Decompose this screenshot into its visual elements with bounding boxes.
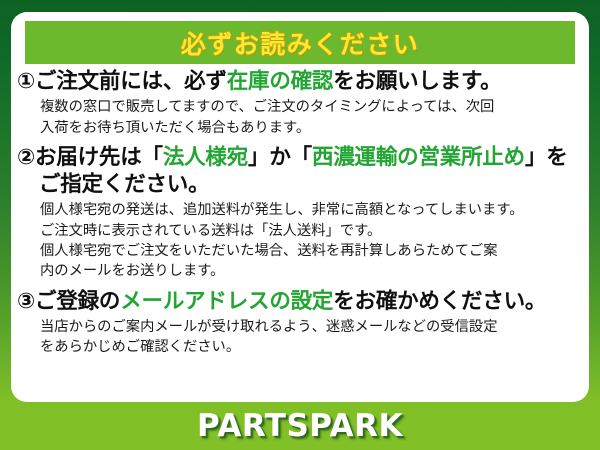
notice-section-3: ③ご登録のメールアドレスの設定をお確かめください。 当店からのご案内メールが受け… <box>17 288 581 358</box>
section-1-marker: ① <box>17 69 35 94</box>
page-title: 必ずお読みください <box>181 25 420 61</box>
section-1-heading-part-3: をお願いします。 <box>333 69 501 94</box>
notice-header-bar: 必ずお読みください <box>25 21 575 64</box>
section-1-note-line-1: 複数の窓口で販売してますので、ご注文のタイミングによっては、次回 <box>40 97 581 117</box>
notice-sections: ①ご注文前には、必ず在庫の確認をお願いします。 複数の窓口で販売してますので、ご… <box>11 68 589 364</box>
section-2-note: 個人様宅宛の発送は、追加送料が発生し、非常に高額となってしまいます。 ご注文時に… <box>17 200 581 281</box>
section-3-heading-highlight: メールアドレスの設定 <box>120 289 333 314</box>
section-2-heading: ②お届け先は「法人様宛」か「西濃運輸の営業所止め」をご指定ください。 <box>17 144 581 199</box>
section-1-heading: ①ご注文前には、必ず在庫の確認をお願いします。 <box>17 68 581 95</box>
section-3-note-line-1: 当店からのご案内メールが受け取れるよう、迷惑メールなどの受信設定 <box>40 317 581 337</box>
section-2-heading-highlight-2: 西濃運輸の営業所止め <box>312 145 525 170</box>
section-3-heading-part-3: をお確かめください。 <box>333 289 546 314</box>
notice-card: 必ずお読みください ①ご注文前には、必ず在庫の確認をお願いします。 複数の窓口で… <box>11 12 589 402</box>
section-1-note-line-2: 入荷をお待ち頂いただく場合もあります。 <box>40 118 581 138</box>
section-3-note-line-2: をあらかじめご確認ください。 <box>40 337 581 357</box>
section-2-heading-part-3: 」か「 <box>248 145 312 170</box>
notice-section-2: ②お届け先は「法人様宛」か「西濃運輸の営業所止め」をご指定ください。 個人様宅宛… <box>17 144 581 282</box>
section-2-heading-highlight-1: 法人様宛 <box>163 145 248 170</box>
section-1-heading-highlight: 在庫の確認 <box>227 69 334 94</box>
section-2-marker: ② <box>17 145 35 170</box>
section-1-note: 複数の窓口で販売してますので、ご注文のタイミングによっては、次回 入荷をお待ち頂… <box>17 97 581 138</box>
section-2-note-line-1: 個人様宅宛の発送は、追加送料が発生し、非常に高額となってしまいます。 <box>40 200 581 220</box>
notice-section-1: ①ご注文前には、必ず在庫の確認をお願いします。 複数の窓口で販売してますので、ご… <box>17 68 581 138</box>
section-2-note-line-4: 内のメールをお送りします。 <box>40 261 581 281</box>
section-3-heading-part-1: ご登録の <box>35 289 120 314</box>
section-3-note: 当店からのご案内メールが受け取れるよう、迷惑メールなどの受信設定 をあらかじめご… <box>17 317 581 358</box>
section-3-heading: ③ご登録のメールアドレスの設定をお確かめください。 <box>17 288 581 315</box>
section-2-heading-part-1: お届け先は「 <box>35 145 163 170</box>
section-2-note-line-3: 個人様宅宛でご注文をいただいた場合、送料を再計算しあらためてご案 <box>40 241 581 261</box>
brand-wordmark: PARTSPARK <box>197 408 403 444</box>
section-3-marker: ③ <box>17 289 35 314</box>
section-2-note-line-2: ご注文時に表示されている送料は「法人送料」です。 <box>40 221 581 241</box>
section-1-heading-part-1: ご注文前には、必ず <box>35 69 227 94</box>
notice-frame: 必ずお読みください ①ご注文前には、必ず在庫の確認をお願いします。 複数の窓口で… <box>0 0 600 450</box>
notice-footer: PARTSPARK <box>0 402 600 450</box>
